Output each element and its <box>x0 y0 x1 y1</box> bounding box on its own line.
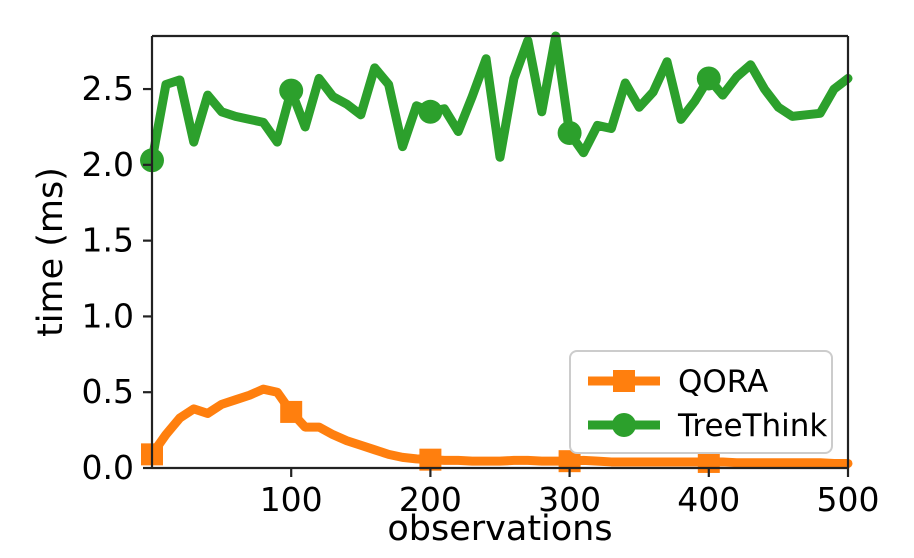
x-tick-label: 500 <box>817 480 880 519</box>
data-point-marker-circle <box>279 79 303 103</box>
data-point-marker-circle <box>558 121 582 145</box>
y-tick-label: 0.5 <box>82 372 134 411</box>
y-tick-label: 0.0 <box>82 448 134 487</box>
legend-marker-square-icon <box>613 370 635 392</box>
data-point-marker-square <box>280 401 302 423</box>
legend-marker-circle-icon <box>612 413 636 437</box>
x-tick-label: 400 <box>677 480 740 519</box>
figure-canvas: 1002003004005000.00.51.01.52.02.5 time (… <box>0 0 914 558</box>
x-axis-title: observations <box>387 509 612 549</box>
line-chart: 1002003004005000.00.51.01.52.02.5 time (… <box>0 0 914 558</box>
chart-legend[interactable]: QORA TreeThink <box>570 351 832 453</box>
legend-label-qora: QORA <box>678 364 768 400</box>
legend-label-treethink: TreeThink <box>677 408 827 444</box>
y-axis-title: time (ms) <box>31 167 71 337</box>
data-point-marker-circle <box>418 100 442 124</box>
y-tick-label: 1.0 <box>82 296 134 335</box>
y-tick-label: 2.0 <box>82 145 134 184</box>
data-point-marker-circle <box>697 66 721 90</box>
y-tick-label: 2.5 <box>82 69 134 108</box>
y-tick-label: 1.5 <box>82 221 134 260</box>
x-tick-label: 100 <box>260 480 323 519</box>
